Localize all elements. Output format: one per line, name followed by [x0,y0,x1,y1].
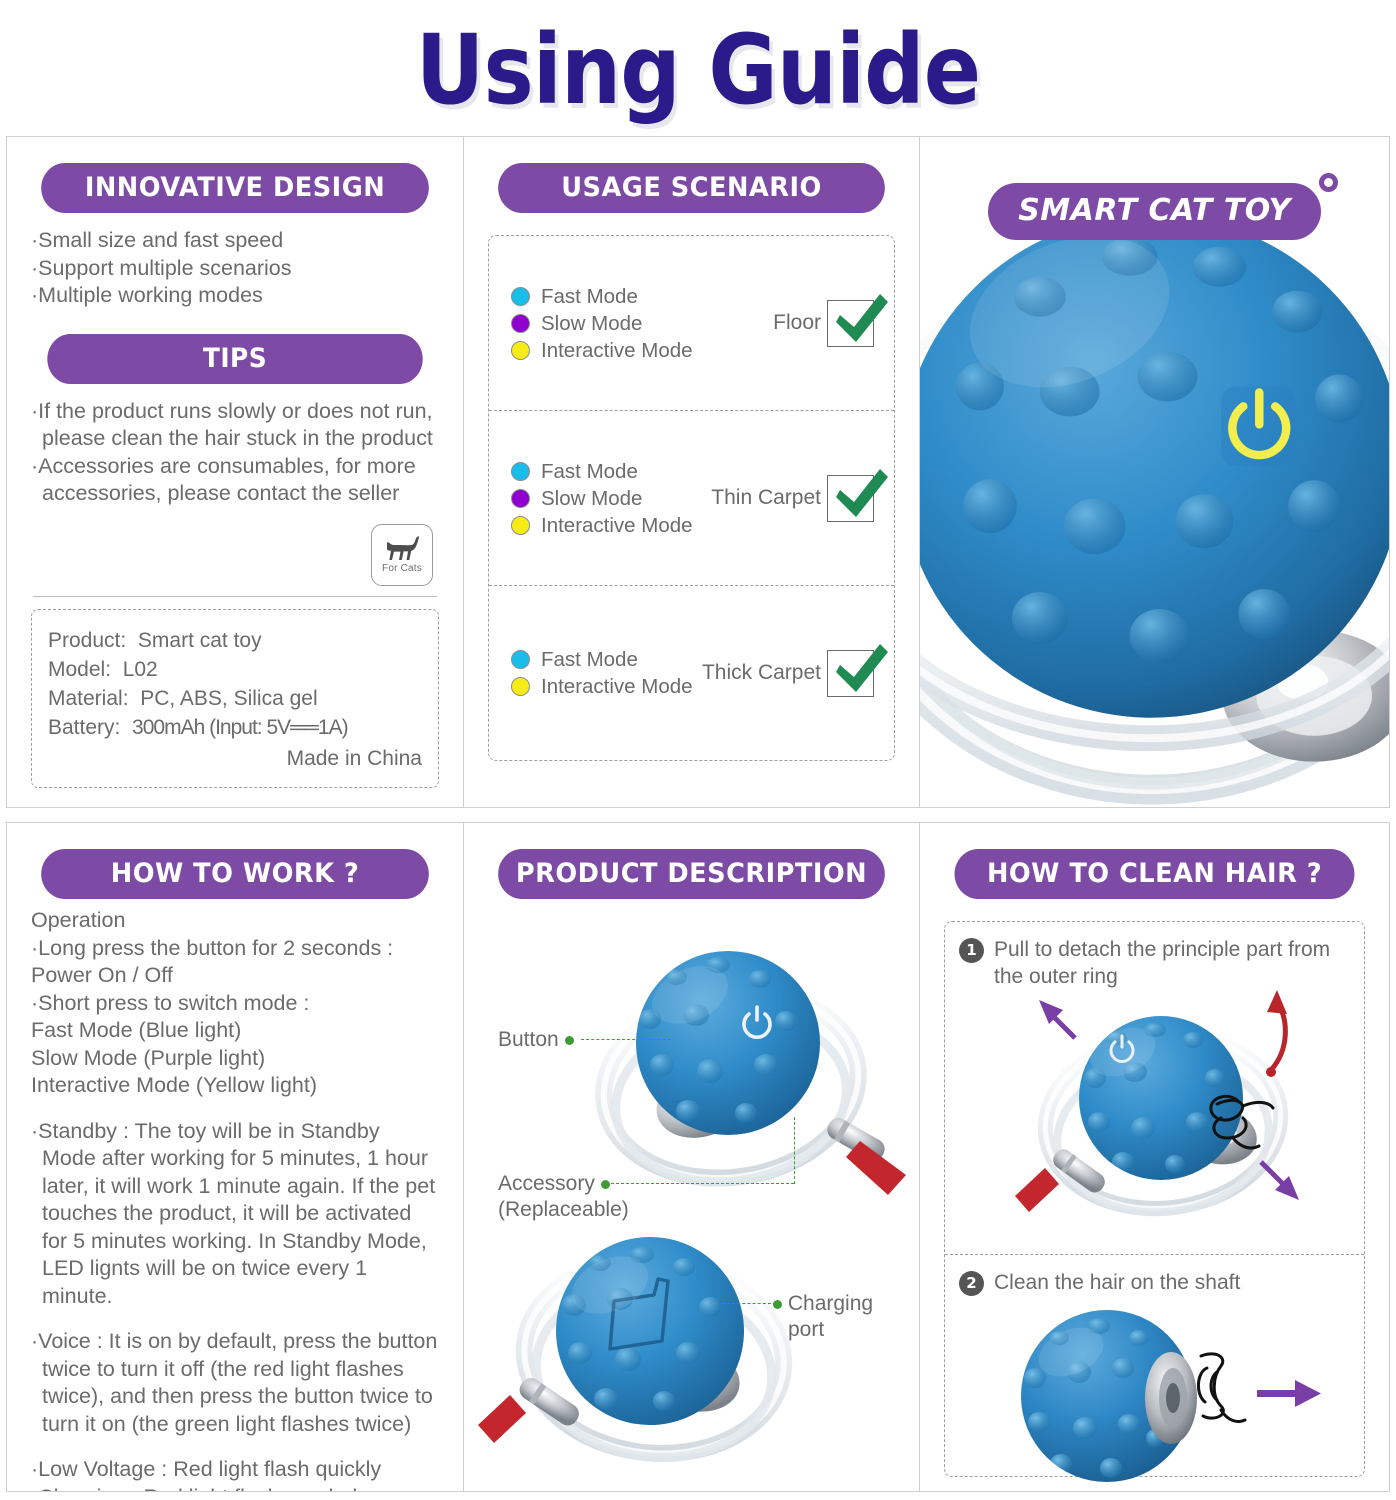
leader-line-accessory-vertical [794,1117,795,1184]
cat-icon [382,536,422,562]
surface-label: Floor [773,311,821,335]
mode-row-fast: Fast Mode [511,283,773,310]
fast-mode-dot-icon [511,462,530,481]
innovative-design-heading: INNOVATIVE DESIGN [41,163,429,213]
spec-label: Model: [48,658,111,681]
how-to-work-operation: Operation ·Long press the button for 2 s… [31,907,439,1100]
leader-line-button [581,1039,671,1040]
callout-dot-icon [601,1180,610,1189]
how-to-work-status: ·Low Voltage : Red light flash quickly ·… [31,1456,439,1491]
spec-value: 300mAh (Input: 5V══1A) [132,716,348,739]
step-number-badge: 2 [959,1271,984,1296]
usage-section-floor: Fast Mode Slow Mode Interactive Mode Flo… [489,236,894,410]
how-to-work-voice: ·Voice : It is on by default, press the … [31,1328,439,1438]
mode-label: Slow Mode [541,310,642,337]
interactive-mode-dot-icon [511,341,530,360]
spec-row-material: Material: PC, ABS, Silica gel [48,684,422,713]
power-button-icon [1221,386,1295,466]
interactive-mode-dot-icon [511,516,530,535]
divider [33,596,437,598]
product-description-diagrams: Button Accessory (Replaceable) [488,899,895,1477]
panel-how-to-work: HOW TO WORK ? Operation ·Long press the … [7,823,463,1491]
callout-label: Charging [788,1292,873,1315]
clean-step-1: 1 Pull to detach the principle part from… [945,922,1364,1254]
list-item: ·Charging : Red light flash regularly [31,1484,439,1492]
usage-section-thin-carpet: Fast Mode Slow Mode Interactive Mode Thi… [489,410,894,585]
clean-steps-box: 1 Pull to detach the principle part from… [944,921,1365,1477]
hero-badge-label: SMART CAT TOY [1018,193,1291,228]
fast-mode-dot-icon [511,650,530,669]
tangled-hair-icon [1198,1354,1245,1422]
spec-label: Material: [48,687,129,710]
callout-charging-port: Charging port [773,1291,873,1343]
step-text: Pull to detach the principle part from t… [994,936,1350,990]
list-item: ·Low Voltage : Red light flash quickly [31,1456,439,1484]
list-item: ·If the product runs slowly or does not … [31,398,439,453]
how-to-clean-hair-heading: HOW TO CLEAN HAIR ? [955,849,1355,899]
ring-decoration-icon [1319,173,1338,192]
smart-cat-toy-badge: SMART CAT TOY [988,183,1321,240]
panel-innovative-design: INNOVATIVE DESIGN ·Small size and fast s… [7,137,463,807]
mode-label: Fast Mode [541,458,638,485]
how-to-work-standby: ·Standby : The toy will be in Standby Mo… [31,1118,439,1311]
surface-label: Thick Carpet [702,661,821,685]
list-item: ·Support multiple scenarios [31,255,439,283]
slow-mode-dot-icon [511,314,530,333]
list-item: Power On / Off [31,962,439,990]
mode-label: Interactive Mode [541,337,693,364]
spec-row-model: Model: L02 [48,655,422,684]
callout-sublabel: port [773,1318,824,1341]
callout-label: Accessory [498,1172,595,1195]
usage-section-thick-carpet: Fast Mode Interactive Mode Thick Carpet [489,585,894,760]
list-item: Operation [31,907,439,935]
product-photo-top [588,933,918,1223]
product-photo-bottom [482,1229,822,1479]
mode-row-interactive: Interactive Mode [511,673,702,700]
for-cats-label: For Cats [382,563,422,574]
tips-heading: TIPS [47,334,422,384]
clean-step-2: 2 Clean the hair on the shaft [945,1254,1364,1476]
callout-label: Button [498,1028,559,1051]
callout-accessory: Accessory (Replaceable) [498,1171,629,1223]
arrow-red-curved [1266,990,1287,1077]
spec-value: Smart cat toy [138,629,262,652]
for-cats-badge: For Cats [371,524,433,586]
callout-button: Button [498,1027,574,1053]
panel-product-description: PRODUCT DESCRIPTION [463,823,919,1491]
callout-dot-icon [565,1036,574,1045]
surface-checkbox[interactable] [827,475,874,522]
list-item: ·Accessories are consumables, for more a… [31,453,439,508]
mode-label: Fast Mode [541,646,638,673]
mode-row-fast: Fast Mode [511,646,702,673]
step-number-badge: 1 [959,938,984,963]
how-to-work-heading: HOW TO WORK ? [41,849,429,899]
list-item: ·Small size and fast speed [31,227,439,255]
top-panel-row: INNOVATIVE DESIGN ·Small size and fast s… [6,136,1390,808]
fast-mode-dot-icon [511,287,530,306]
callout-dot-icon [773,1300,782,1309]
mode-row-fast: Fast Mode [511,458,711,485]
callout-sublabel: (Replaceable) [498,1198,629,1221]
usage-scenario-box: Fast Mode Slow Mode Interactive Mode Flo… [488,235,895,761]
page-title: Using Guide [84,0,1312,136]
spec-label: Battery: [48,716,120,739]
interactive-mode-dot-icon [511,677,530,696]
mode-label: Interactive Mode [541,512,693,539]
bottom-panel-row: HOW TO WORK ? Operation ·Long press the … [6,822,1390,1492]
spec-origin: Made in China [48,744,422,773]
arrow-purple-up-left [1039,1000,1075,1038]
step-text: Clean the hair on the shaft [994,1269,1240,1296]
arrow-purple-down-right [1261,1162,1299,1200]
list-item: Interactive Mode (Yellow light) [31,1072,439,1100]
mode-row-slow: Slow Mode [511,310,773,337]
innovative-design-bullets: ·Small size and fast speed ·Support mult… [31,227,439,310]
surface-checkbox[interactable] [827,300,874,347]
mode-label: Interactive Mode [541,673,693,700]
leader-line-charging-port [722,1303,776,1304]
mode-row-interactive: Interactive Mode [511,512,711,539]
mode-label: Slow Mode [541,485,642,512]
surface-label: Thin Carpet [711,486,821,510]
list-item: ·Long press the button for 2 seconds : [31,935,439,963]
tips-bullets: ·If the product runs slowly or does not … [31,398,439,508]
panel-hero: SMART CAT TOY [919,137,1389,807]
product-description-heading: PRODUCT DESCRIPTION [498,849,885,899]
list-item: ·Multiple working modes [31,282,439,310]
spec-row-battery: Battery: 300mAh (Input: 5V══1A) [48,713,422,742]
mode-row-slow: Slow Mode [511,485,711,512]
hero-image: SMART CAT TOY [920,137,1389,807]
spec-label: Product: [48,629,126,652]
list-item: Fast Mode (Blue light) [31,1017,439,1045]
surface-checkbox[interactable] [827,650,874,697]
panel-usage-scenario: USAGE SCENARIO Fast Mode Slow Mode Inter [463,137,919,807]
spec-row-product: Product: Smart cat toy [48,626,422,655]
spec-value: L02 [123,658,158,681]
mode-row-interactive: Interactive Mode [511,337,773,364]
list-item: Slow Mode (Purple light) [31,1045,439,1073]
list-item: ·Short press to switch mode : [31,990,439,1018]
usage-scenario-heading: USAGE SCENARIO [498,163,885,213]
leader-line-accessory [606,1183,794,1184]
arrow-purple-right [1257,1380,1321,1407]
slow-mode-dot-icon [511,489,530,508]
spec-value: PC, ABS, Silica gel [140,687,317,710]
spec-box: Product: Smart cat toy Model: L02 Materi… [31,609,439,788]
mode-label: Fast Mode [541,283,638,310]
panel-how-to-clean-hair: HOW TO CLEAN HAIR ? 1 Pull to detach the… [919,823,1389,1491]
